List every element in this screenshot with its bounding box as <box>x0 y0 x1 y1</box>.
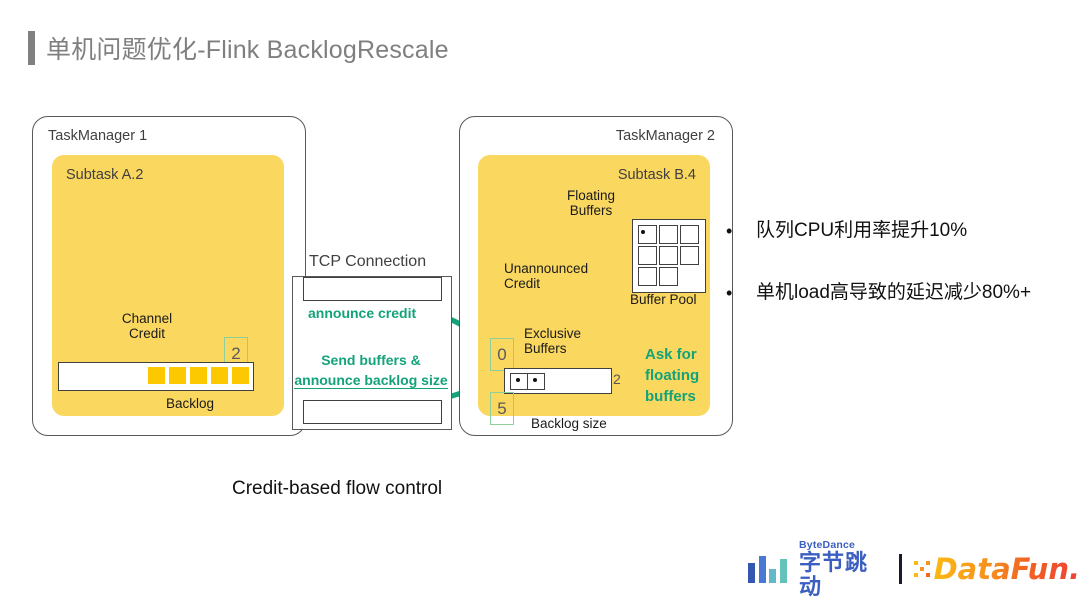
send-buffers-callout: Send buffers & announce backlog size <box>292 350 450 390</box>
backlog-size-value-box: 5 <box>490 392 514 425</box>
bullet-list: • 队列CPU利用率提升10% • 单机load高导致的延迟减少80%+ <box>720 218 1080 342</box>
diagram-caption: Credit-based flow control <box>232 478 442 500</box>
exclusive-buffer-dot <box>533 378 537 382</box>
backlog-cell <box>232 367 249 384</box>
floating-buffer-cell <box>638 267 657 286</box>
subtask-a2-label: Subtask A.2 <box>66 167 143 183</box>
bytedance-logo: ByteDance 字节跳动 <box>748 539 885 599</box>
backlog-size-label: Backlog size <box>531 416 607 431</box>
list-item: • 队列CPU利用率提升10% <box>720 218 1080 244</box>
floating-buffer-cell <box>680 246 699 265</box>
floating-buffer-cell <box>680 225 699 244</box>
taskmanager-2-label: TaskManager 2 <box>555 128 715 144</box>
receiver-bar-value: 2 <box>613 372 621 387</box>
list-item: • 单机load高导致的延迟减少80%+ <box>720 280 1080 306</box>
bullet-text: 单机load高导致的延迟减少80%+ <box>756 280 1031 306</box>
floating-buffer-cell <box>659 225 678 244</box>
floating-buffer-cell <box>638 246 657 265</box>
floating-buffer-cell <box>659 267 678 286</box>
unannounced-credit-label: Unannounced Credit <box>504 261 588 291</box>
floating-buffer-cell <box>638 225 657 244</box>
datafun-logo: DataFun. <box>914 554 1080 584</box>
bullet-text: 队列CPU利用率提升10% <box>756 218 967 244</box>
announce-credit-callout: announce credit <box>308 305 416 321</box>
backlog-cell <box>190 367 207 384</box>
bullet-marker: • <box>720 280 756 306</box>
tcp-connection-title: TCP Connection <box>309 253 426 271</box>
bytedance-bars-icon <box>748 555 790 583</box>
ask-for-floating-buffers-callout: Ask for floating buffers <box>645 344 699 407</box>
tcp-downstream-lane <box>303 400 442 424</box>
floating-buffers-label: Floating Buffers <box>555 188 627 218</box>
backlog-cell <box>148 367 165 384</box>
datafun-wordmark: DataFun. <box>934 554 1080 584</box>
tcp-upstream-lane <box>303 277 442 301</box>
backlog-cell <box>211 367 228 384</box>
subtask-b4-label: Subtask B.4 <box>540 167 696 183</box>
floating-buffer-dot <box>641 230 645 234</box>
logo-divider <box>899 554 902 584</box>
footer-logos: ByteDance 字节跳动 DataFun. <box>748 546 1080 592</box>
taskmanager-1-label: TaskManager 1 <box>48 128 147 144</box>
backlog-label: Backlog <box>150 396 230 411</box>
backlog-cell <box>169 367 186 384</box>
exclusive-buffers-label: Exclusive Buffers <box>524 326 581 356</box>
channel-credit-label: Channel Credit <box>108 311 186 341</box>
exclusive-buffer-dot <box>516 378 520 382</box>
bytedance-cn-label: 字节跳动 <box>799 551 885 599</box>
buffer-pool-label: Buffer Pool <box>630 292 697 307</box>
datafun-dots-icon <box>914 561 930 577</box>
floating-buffer-cell <box>659 246 678 265</box>
bytedance-wordmark: ByteDance 字节跳动 <box>799 539 885 599</box>
unannounced-credit-value-box: 0 <box>490 338 514 371</box>
bullet-marker: • <box>720 218 756 244</box>
